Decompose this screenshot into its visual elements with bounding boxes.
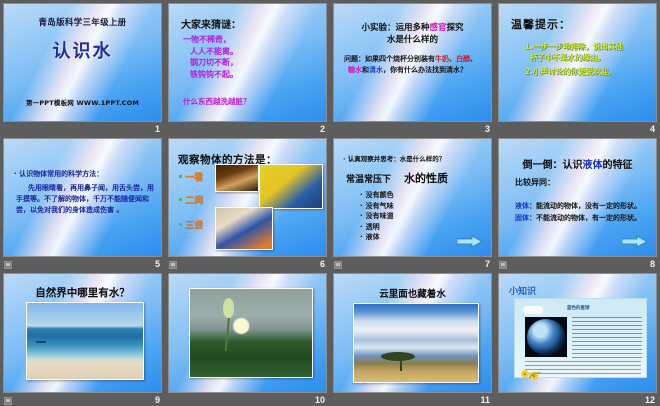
panel-heading: 蓝色的星球 — [567, 305, 590, 311]
slide-cell-12[interactable]: 小知识 蓝色的星球 12 — [495, 270, 660, 406]
lotus-bud — [223, 298, 234, 318]
liquid-item-sugarwater: 糖水 — [348, 66, 362, 74]
next-arrow-icon[interactable] — [457, 235, 483, 248]
property-item: 没有颜色 — [360, 190, 394, 201]
riddle-line: 一物不稀奇， — [183, 34, 238, 46]
savanna-clouds-photo — [353, 303, 479, 383]
slide7-property-list: 没有颜色 没有气味 没有味道 透明 液体 — [360, 190, 394, 243]
slide-cell-2[interactable]: 大家来猜谜： 一物不稀奇， 人人不能离。 钢刀切不断， 铁钩钩不起。 什么东西越… — [165, 0, 330, 135]
media-icon — [4, 397, 12, 405]
slide-9[interactable]: 自然界中哪里有水？ — [3, 273, 162, 393]
slide7-question: · 认真观察并思考：水是什么样的？ — [343, 153, 445, 163]
slide7-heading: 水的性质 — [404, 170, 448, 186]
slide-number: 6 — [320, 258, 325, 270]
slide-4[interactable]: 温馨提示： 1.一步一步地排除，说出其他 杯子中不是水的缘由。 2.小声讨论的你… — [498, 3, 657, 122]
slide-number: 8 — [650, 258, 655, 270]
slide-8[interactable]: 倒一倒：认识液体的特征 比较异同： 液体：能流动的物体，没有一定的形状。 固体：… — [498, 138, 657, 257]
slide-1[interactable]: 青岛版科学三年级上册 认识水 第一PPT模板网 WWW.1PPT.COM — [3, 3, 162, 122]
slide1-title: 认识水 — [4, 37, 161, 63]
slide-number: 1 — [155, 123, 160, 135]
slide-number: 9 — [155, 394, 160, 406]
lotus-flower-pond-photo — [189, 288, 313, 378]
riddle-line: 钢刀切不断， — [183, 57, 238, 69]
property-item: 没有味道 — [360, 211, 394, 222]
slide2-title: 大家来猜谜： — [181, 16, 241, 31]
bullet-dot — [179, 223, 182, 226]
slide-thumbnail-grid: 青岛版科学三年级上册 认识水 第一PPT模板网 WWW.1PPT.COM 1 大… — [0, 0, 660, 406]
slide4-title: 温馨提示： — [511, 16, 571, 32]
media-icon — [499, 261, 507, 269]
title-prefix: 倒一倒：认识 — [523, 160, 583, 171]
slide5-body: 先用眼睛看，再用鼻子闻，用舌头尝，用手摸等。不了解的物体，千万不能随便闻和尝，以… — [16, 183, 156, 216]
slide-2[interactable]: 大家来猜谜： 一物不稀奇， 人人不能离。 钢刀切不断， 铁钩钩不起。 什么东西越… — [168, 3, 327, 122]
slide5-heading: · 认识物体常用的科学方法： — [14, 169, 103, 179]
slide9-title: 自然界中哪里有水？ — [4, 285, 161, 300]
cloud-icon — [523, 306, 543, 314]
slide-3[interactable]: 小实验：运用多种感官探究 水是什么样的 问题：如果四个烧杯分别装有牛奶、白醋、 … — [333, 3, 492, 122]
panel-body-text — [572, 317, 642, 359]
slide-12[interactable]: 小知识 蓝色的星球 — [498, 273, 657, 393]
slide12-title: 小知识 — [509, 284, 536, 297]
slide8-row-liquid: 液体：能流动的物体，没有一定的形状。 — [515, 201, 641, 211]
slide2-riddle-list: 一物不稀奇， 人人不能离。 钢刀切不断， 铁钩钩不起。 — [183, 34, 238, 80]
slide-cell-5[interactable]: · 认识物体常用的科学方法： 先用眼睛看，再用鼻子闻，用舌头尝，用手摸等。不了解… — [0, 135, 165, 270]
slide-number: 10 — [315, 394, 325, 406]
slide11-title: 云里面也藏着水 — [334, 286, 491, 300]
slide1-subtitle: 青岛版科学三年级上册 — [4, 16, 161, 28]
property-item: 液体 — [360, 232, 394, 243]
property-item: 透明 — [360, 222, 394, 233]
media-icon — [169, 261, 177, 269]
sea-beach-photo — [26, 302, 144, 380]
slide-cell-1[interactable]: 青岛版科学三年级上册 认识水 第一PPT模板网 WWW.1PPT.COM 1 — [0, 0, 165, 135]
media-icon — [334, 261, 342, 269]
heading-highlight: 感官 — [429, 23, 446, 33]
slide1-footer: 第一PPT模板网 WWW.1PPT.COM — [4, 97, 161, 107]
slide-number: 7 — [485, 258, 490, 270]
slide-number: 3 — [485, 123, 490, 135]
question-prefix: 问题：如果四个烧杯分别装有 — [344, 55, 435, 63]
flowers-decoration-icon — [519, 364, 549, 380]
heading-part1: 小实验：运用多种 — [361, 23, 429, 33]
row-text: ：能流动的物体，没有一定的形状。 — [529, 202, 641, 210]
question-suffix: ，你有什么办法找到清水？ — [383, 66, 467, 74]
liquid-item-vinegar: 白醋 — [456, 55, 470, 63]
slide2-question: 什么东西越洗越脏？ — [183, 96, 251, 107]
slide4-tip1-line1: 1.一步一步地排除，说出其他 — [525, 41, 623, 52]
slide-cell-3[interactable]: 小实验：运用多种感官探究 水是什么样的 问题：如果四个烧杯分别装有牛奶、白醋、 … — [330, 0, 495, 135]
slide4-tip1-line2: 杯子中不是水的缘由。 — [530, 52, 605, 63]
slide3-question-line2: 糖水和清水，你有什么办法找到清水？ — [348, 65, 467, 75]
slide-11[interactable]: 云里面也藏着水 — [333, 273, 492, 393]
slide-number: 2 — [320, 123, 325, 135]
two-people-photo — [259, 164, 323, 209]
slide3-heading-line2: 水是什么样的 — [334, 33, 491, 45]
liquid-item-milk: 牛奶 — [435, 55, 449, 63]
bullet-dot — [179, 175, 182, 178]
slide-number: 5 — [155, 258, 160, 270]
property-item: 没有气味 — [360, 201, 394, 212]
slide-cell-11[interactable]: 云里面也藏着水 11 — [330, 270, 495, 406]
slide3-heading-line1: 小实验：运用多种感官探究 — [334, 21, 491, 33]
slide-6[interactable]: 观察物体的方法是： 一看 二闻 三尝 — [168, 138, 327, 257]
slide-cell-7[interactable]: · 认真观察并思考：水是什么样的？ 常温常压下 水的性质 没有颜色 没有气味 没… — [330, 135, 495, 270]
slide-number: 11 — [480, 394, 490, 406]
row-label: 固体 — [515, 214, 529, 222]
riddle-line: 铁钩钩不起。 — [183, 69, 238, 81]
title-keyword: 液体 — [583, 160, 603, 171]
slide-number: 12 — [645, 394, 655, 406]
slide6-bullet-taste: 三尝 — [185, 218, 203, 231]
knowledge-panel: 蓝色的星球 — [514, 298, 647, 378]
slide-10[interactable] — [168, 273, 327, 393]
liquid-item-clearwater: 清水 — [369, 66, 383, 74]
slide4-tip2: 2.小声讨论的你更受欢迎。 — [525, 66, 616, 77]
riddle-line: 人人不能离。 — [183, 46, 238, 58]
item-join: 和 — [362, 66, 369, 74]
title-suffix: 的特征 — [603, 160, 633, 171]
slide6-bullet-smell: 二闻 — [185, 193, 203, 206]
slide-cell-10[interactable]: 10 — [165, 270, 330, 406]
slide3-question-line1: 问题：如果四个烧杯分别装有牛奶、白醋、 — [344, 54, 477, 64]
blindfolded-child-photo — [215, 207, 273, 250]
slide-number: 4 — [650, 123, 655, 135]
slide-cell-8[interactable]: 倒一倒：认识液体的特征 比较异同： 液体：能流动的物体，没有一定的形状。 固体：… — [495, 135, 660, 270]
earth-globe-image — [525, 317, 567, 357]
next-arrow-icon[interactable] — [622, 235, 648, 248]
tree-trunk — [400, 359, 402, 371]
child-smelling-photo — [215, 164, 259, 192]
row-text: ：不能流动的物体，有一定的形状。 — [529, 214, 641, 222]
slide7-condition: 常温常压下 — [346, 172, 391, 185]
media-icon — [4, 261, 12, 269]
slide6-bullet-look: 一看 — [185, 170, 203, 183]
slide8-subtitle: 比较异同： — [515, 177, 555, 188]
slide-cell-4[interactable]: 温馨提示： 1.一步一步地排除，说出其他 杯子中不是水的缘由。 2.小声讨论的你… — [495, 0, 660, 135]
slide8-row-solid: 固体：不能流动的物体，有一定的形状。 — [515, 213, 641, 223]
slide-cell-6[interactable]: 观察物体的方法是： 一看 二闻 三尝 6 — [165, 135, 330, 270]
slide8-title: 倒一倒：认识液体的特征 — [499, 156, 656, 171]
heading-part2: 探究 — [447, 23, 464, 33]
slide-5[interactable]: · 认识物体常用的科学方法： 先用眼睛看，再用鼻子闻，用舌头尝，用手摸等。不了解… — [3, 138, 162, 257]
bullet-dot — [179, 198, 182, 201]
row-label: 液体 — [515, 202, 529, 210]
slide-cell-9[interactable]: 自然界中哪里有水？ 9 — [0, 270, 165, 406]
slide-7[interactable]: · 认真观察并思考：水是什么样的？ 常温常压下 水的性质 没有颜色 没有气味 没… — [333, 138, 492, 257]
